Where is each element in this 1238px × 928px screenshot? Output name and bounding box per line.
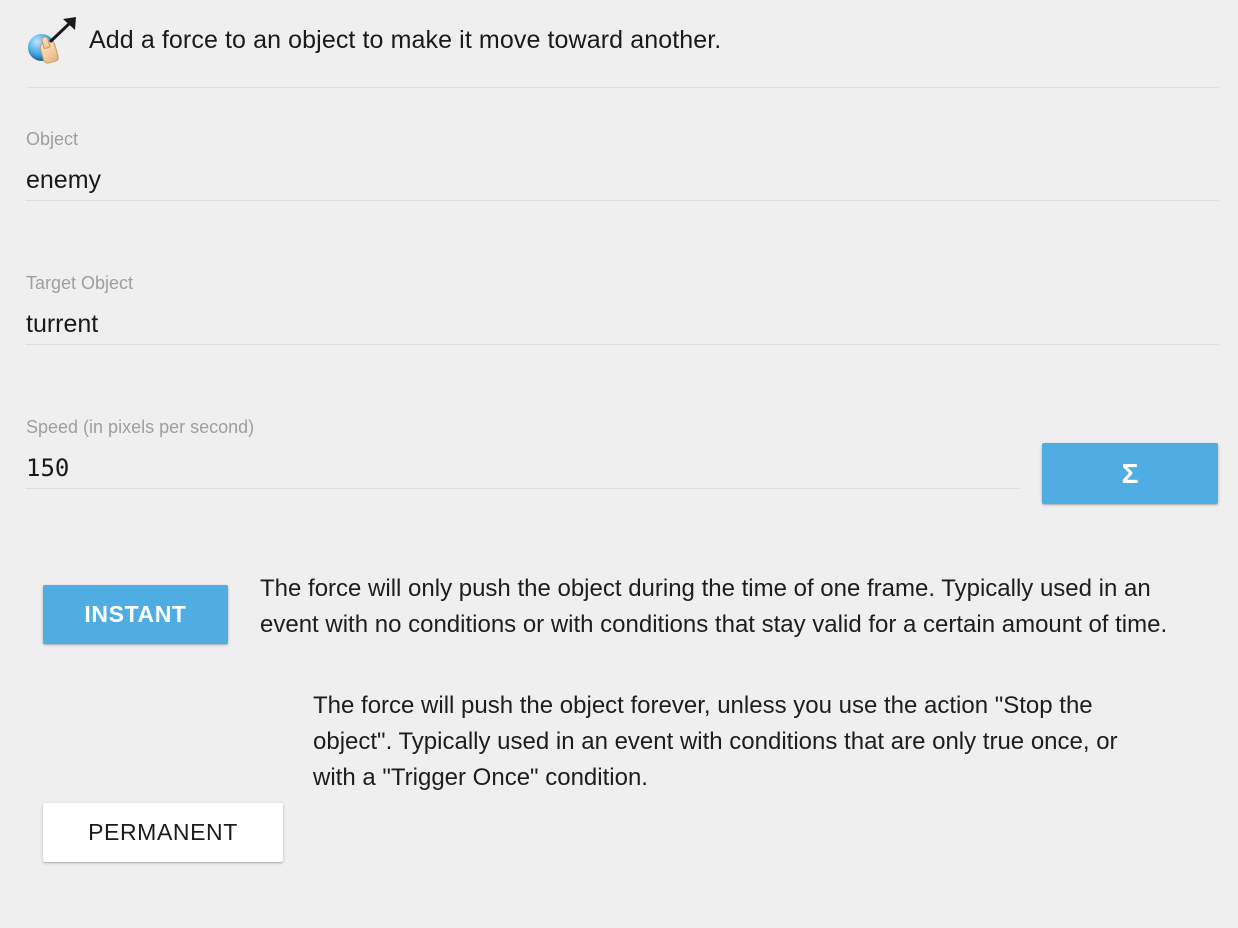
expression-editor-button[interactable]: Σ bbox=[1042, 443, 1218, 504]
permanent-mode-button[interactable]: PERMANENT bbox=[43, 803, 283, 862]
mode-row-permanent: PERMANENT The force will push the object… bbox=[43, 745, 1153, 862]
field-target-object-label: Target Object bbox=[26, 272, 1219, 294]
field-target-object-underline bbox=[26, 344, 1219, 345]
page-title: Add a force to an object to make it move… bbox=[89, 26, 721, 55]
field-object-label: Object bbox=[26, 128, 1219, 150]
mode-row-instant: INSTANT The force will only push the obj… bbox=[43, 585, 1195, 644]
field-speed-label: Speed (in pixels per second) bbox=[26, 416, 1020, 438]
add-force-toward-object-icon bbox=[27, 17, 77, 63]
dialog-header: Add a force to an object to make it move… bbox=[27, 16, 1219, 64]
field-target-object: Target Object bbox=[26, 272, 1219, 345]
field-speed-underline bbox=[26, 488, 1020, 489]
arrow-up-right-icon bbox=[49, 17, 77, 43]
target-object-input[interactable] bbox=[26, 306, 1219, 342]
field-object-underline bbox=[26, 200, 1219, 201]
field-speed: Speed (in pixels per second) bbox=[26, 416, 1020, 489]
field-object: Object bbox=[26, 128, 1219, 201]
sigma-icon: Σ bbox=[1122, 460, 1139, 488]
instant-mode-description: The force will only push the object duri… bbox=[260, 571, 1195, 643]
permanent-mode-description: The force will push the object forever, … bbox=[313, 688, 1153, 796]
instant-mode-button[interactable]: INSTANT bbox=[43, 585, 228, 644]
speed-input[interactable] bbox=[26, 450, 1020, 486]
object-input[interactable] bbox=[26, 162, 1219, 198]
add-force-action-dialog: Add a force to an object to make it move… bbox=[0, 0, 1238, 928]
header-divider bbox=[27, 87, 1219, 88]
